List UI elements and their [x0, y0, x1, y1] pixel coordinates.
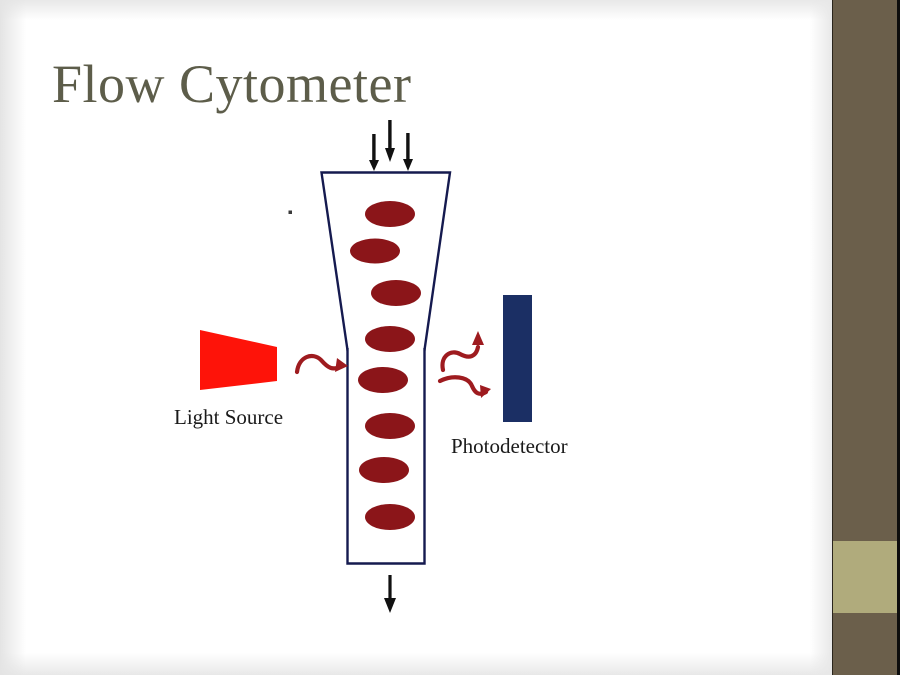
stray-dot-mark — [289, 211, 293, 215]
cell-particle — [371, 280, 421, 306]
scattered-light-ray-lower-arrowhead — [480, 385, 491, 398]
scattered-light-ray-upper — [442, 347, 478, 370]
photodetector-sensor — [503, 295, 532, 422]
cell-particle — [365, 201, 415, 227]
light-source-label: Light Source — [174, 405, 283, 430]
cell-particle — [365, 326, 415, 352]
scattered-light-ray-lower — [440, 377, 486, 394]
cell-particle — [365, 504, 415, 530]
sample-flow-arrows-inlet — [369, 120, 413, 171]
light-source-emitter — [200, 330, 277, 390]
decorative-sidebar — [832, 0, 900, 675]
photodetector-label: Photodetector — [451, 434, 568, 459]
scattered-light-ray-upper-arrowhead — [472, 331, 484, 345]
cell-particle — [358, 367, 408, 393]
flow-cytometer-diagram — [0, 0, 832, 675]
cell-particle — [365, 413, 415, 439]
sidebar-left-edge — [832, 0, 833, 675]
incident-light-ray — [297, 356, 341, 372]
slide-root: Flow Cytometer — [0, 0, 900, 675]
sidebar-accent-block — [832, 541, 897, 613]
slide-canvas: Flow Cytometer — [0, 0, 832, 675]
sample-flow-arrows-outlet — [384, 575, 396, 613]
incident-light-ray-arrowhead — [335, 358, 348, 372]
cell-particle — [359, 457, 409, 483]
cell-particle — [350, 239, 400, 264]
